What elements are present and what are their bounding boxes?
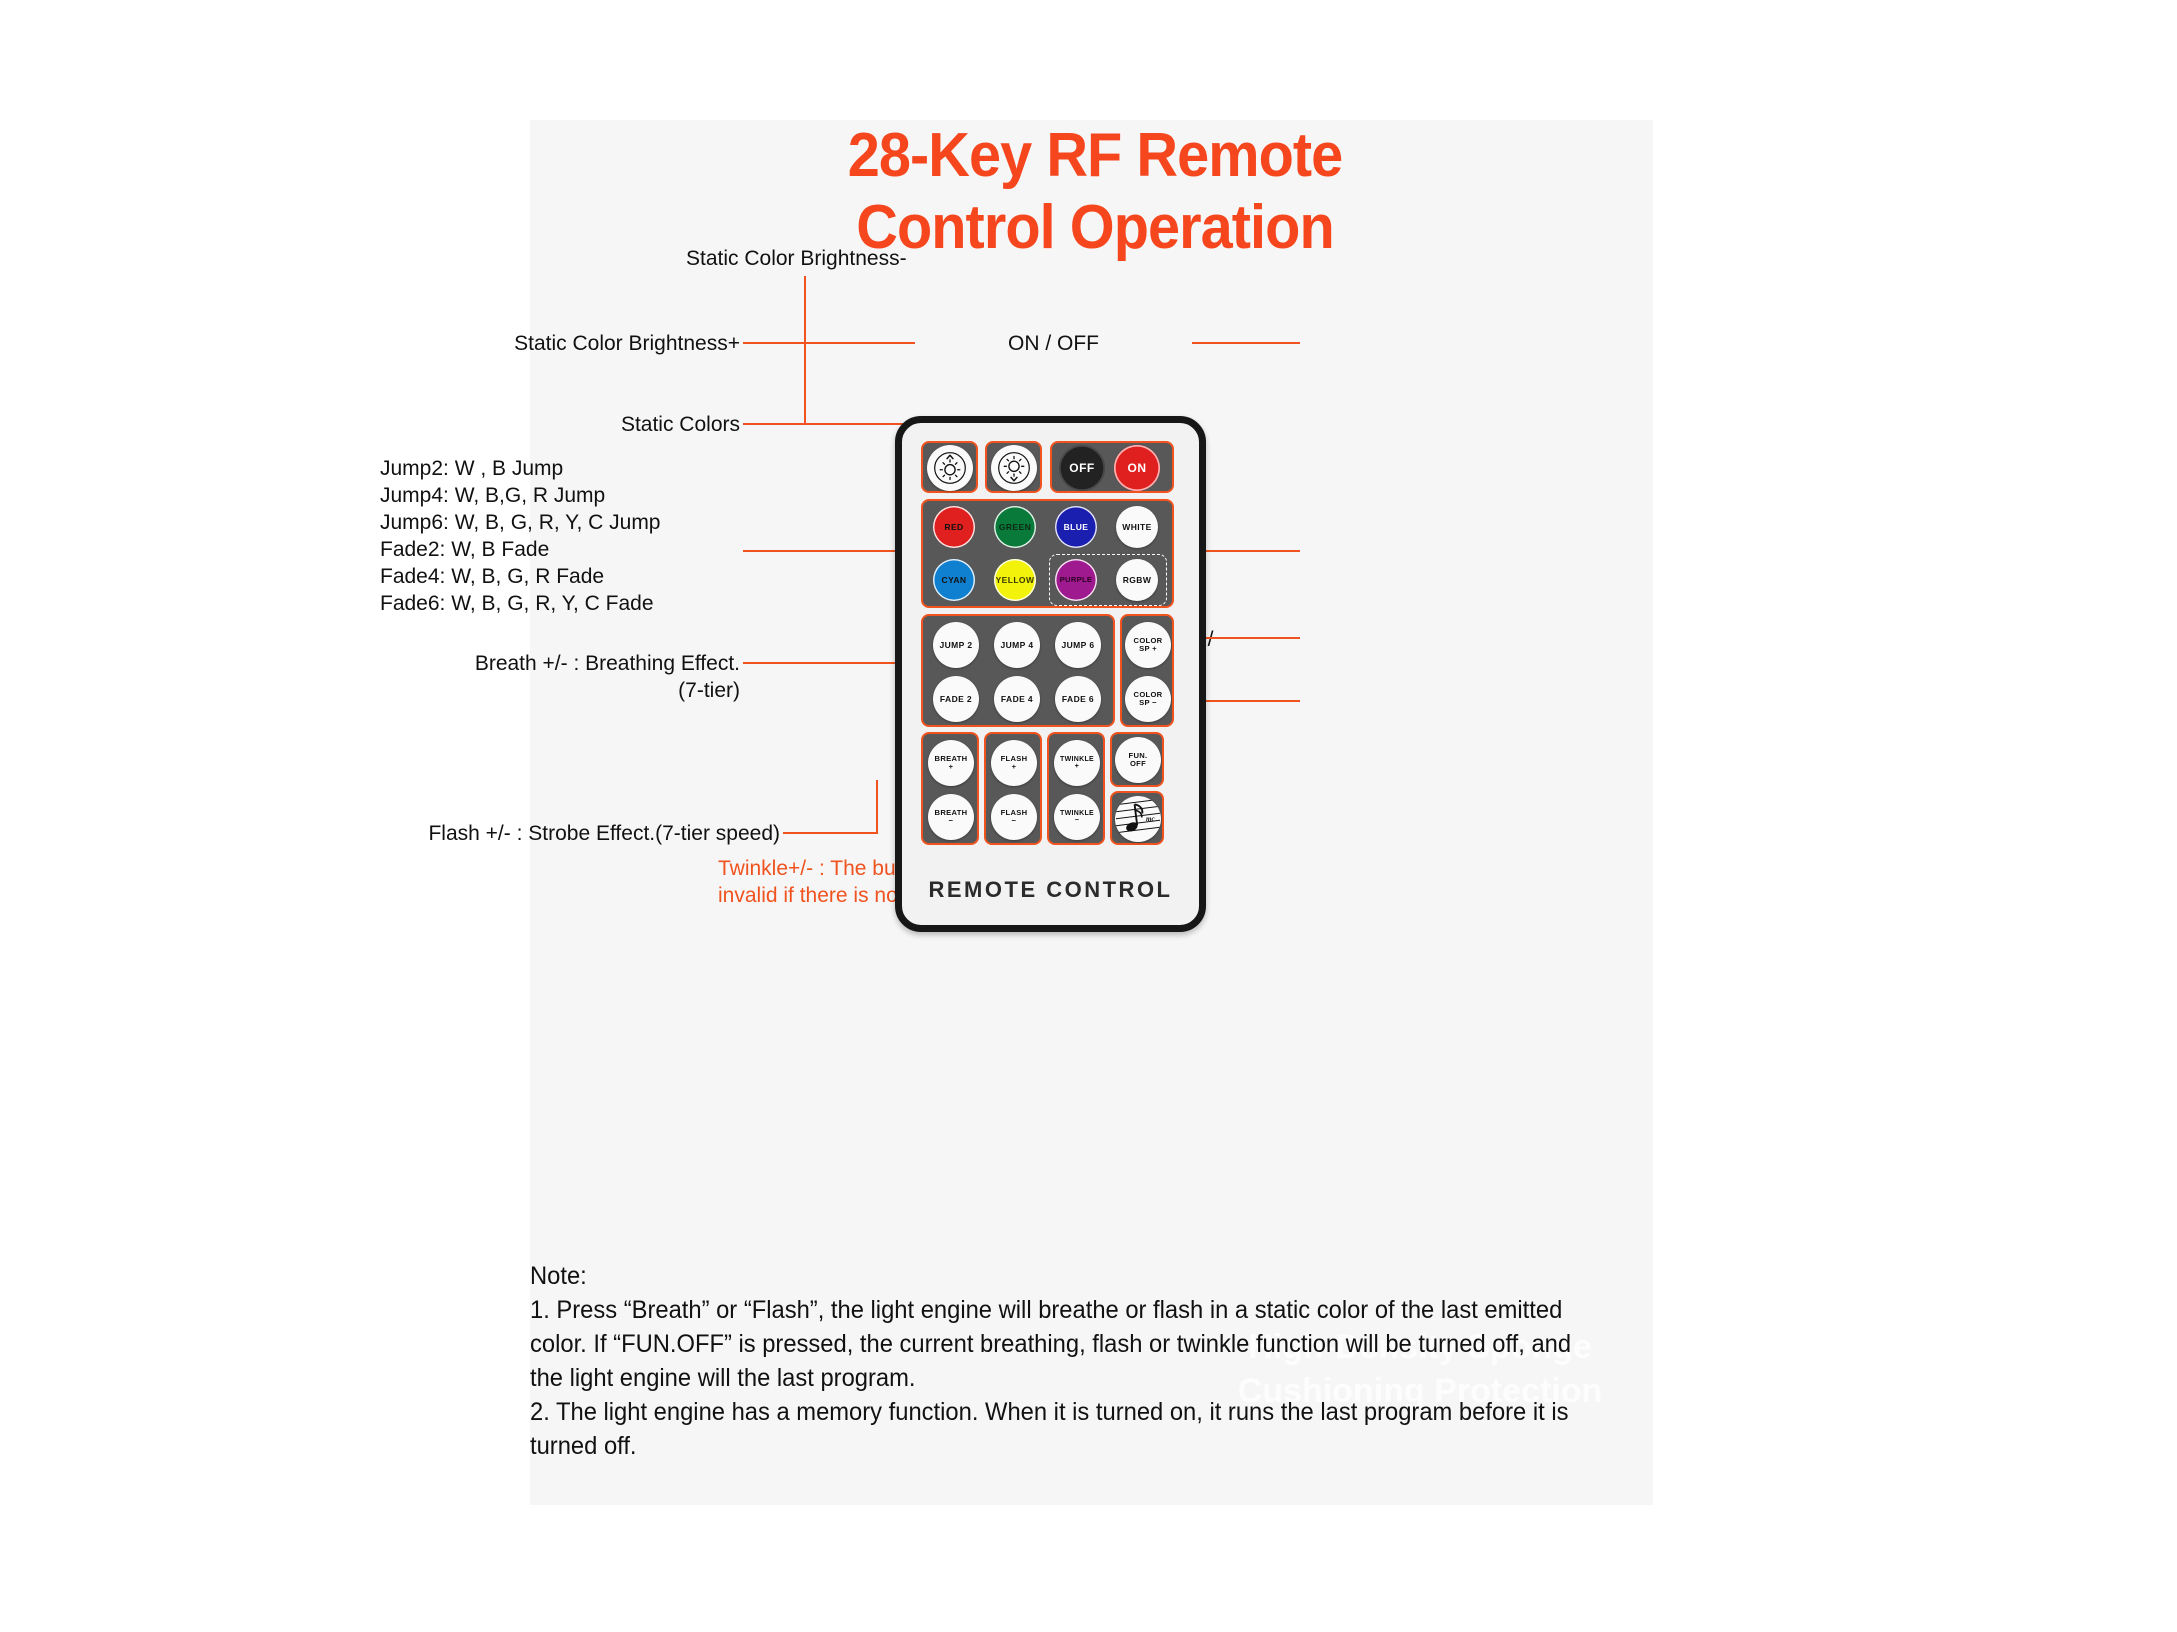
- leader-fun-off: [1192, 637, 1300, 639]
- zone-brightness-up: [921, 441, 978, 493]
- color-button-cyan[interactable]: CYAN: [933, 559, 975, 601]
- annotation-brightness-plus: Static Color Brightness+: [420, 330, 740, 357]
- fade6-button[interactable]: FADE 6: [1055, 676, 1101, 722]
- jump6-button[interactable]: JUMP 6: [1055, 622, 1101, 668]
- jump4-button[interactable]: JUMP 4: [994, 622, 1040, 668]
- leader-brightness-plus: [743, 342, 915, 344]
- color-sp-plus-button[interactable]: COLOR SP +: [1125, 622, 1171, 668]
- leader-static-colors: [743, 423, 915, 425]
- page-title: 28-Key RF Remote Control Operation: [588, 120, 1602, 264]
- annotation-brightness-minus: Static Color Brightness-: [686, 245, 907, 272]
- leader-on-off: [1192, 342, 1300, 344]
- color-button-red[interactable]: RED: [933, 506, 975, 548]
- zone-power: OFF ON: [1050, 441, 1174, 493]
- leader-twinkle-effect: [1192, 700, 1300, 702]
- fade2-button[interactable]: FADE 2: [933, 676, 979, 722]
- twinkle-minus-button[interactable]: TWINKLE −: [1054, 794, 1100, 840]
- leader-breath: [743, 662, 915, 664]
- sun-up-icon: [933, 451, 967, 485]
- note-item-2: 2. The light engine has a memory functio…: [530, 1395, 1597, 1463]
- breath-minus-button[interactable]: BREATH −: [928, 794, 974, 840]
- jump2-button[interactable]: JUMP 2: [933, 622, 979, 668]
- annotation-jump-fade: Jump2: W , B Jump Jump4: W, B,G, R Jump …: [380, 455, 730, 617]
- brightness-up-button[interactable]: [927, 445, 973, 491]
- color-button-yellow[interactable]: YELLOW: [994, 559, 1036, 601]
- fun-off-button[interactable]: FUN. OFF: [1115, 737, 1161, 783]
- twinkle-plus-button[interactable]: TWINKLE +: [1054, 740, 1100, 786]
- color-sp-minus-button[interactable]: COLOR SP −: [1125, 676, 1171, 722]
- leader-brightness-minus: [804, 276, 806, 424]
- annotation-on-off: ON / OFF: [1008, 330, 1099, 357]
- flash-plus-button[interactable]: FLASH +: [991, 740, 1037, 786]
- sun-down-icon: [997, 451, 1031, 485]
- leader-color-sp: [1192, 550, 1300, 552]
- leader-flash-h: [783, 832, 878, 834]
- brightness-down-button[interactable]: [991, 445, 1037, 491]
- zone-jump-fade: JUMP 2 JUMP 4 JUMP 6 FADE 2 FADE 4 FADE …: [921, 614, 1115, 727]
- zone-brightness-down: [985, 441, 1042, 493]
- annotation-static-colors: Static Colors: [395, 411, 740, 438]
- breath-plus-button[interactable]: BREATH +: [928, 740, 974, 786]
- zone-static-colors: RED GREEN BLUE WHITE CYAN YELLOW PURPLE …: [921, 499, 1174, 608]
- color-button-green[interactable]: GREEN: [994, 506, 1036, 548]
- note-block: Note: 1. Press “Breath” or “Flash”, the …: [530, 1259, 1597, 1463]
- zone-color-speed: COLOR SP + COLOR SP −: [1120, 614, 1174, 727]
- remote-control-device: OFF ON RED GREEN BLUE WHITE CYAN YELLOW …: [895, 416, 1206, 932]
- zone-breath: BREATH + BREATH −: [921, 732, 979, 845]
- remote-wordmark: REMOTE CONTROL: [902, 877, 1199, 903]
- flash-minus-button[interactable]: FLASH −: [991, 794, 1037, 840]
- music-note-icon: mc: [1116, 797, 1160, 841]
- music-note-button[interactable]: mc: [1115, 796, 1161, 842]
- color-button-white[interactable]: WHITE: [1116, 506, 1158, 548]
- leader-flash-v: [876, 780, 878, 834]
- zone-sound-control: mc: [1110, 791, 1164, 845]
- svg-text:mc: mc: [1146, 815, 1155, 823]
- color-button-purple[interactable]: PURPLE: [1055, 559, 1097, 601]
- zone-twinkle: TWINKLE + TWINKLE −: [1047, 732, 1105, 845]
- on-button[interactable]: ON: [1114, 445, 1160, 491]
- color-button-rgbw[interactable]: RGBW: [1116, 559, 1158, 601]
- zone-fun-off: FUN. OFF: [1110, 732, 1164, 787]
- color-button-blue[interactable]: BLUE: [1055, 506, 1097, 548]
- off-button[interactable]: OFF: [1059, 445, 1105, 491]
- leader-jump-fade: [743, 550, 915, 552]
- fade4-button[interactable]: FADE 4: [994, 676, 1040, 722]
- note-header: Note:: [530, 1259, 1597, 1293]
- zone-flash: FLASH + FLASH −: [984, 732, 1042, 845]
- note-item-1: 1. Press “Breath” or “Flash”, the light …: [530, 1293, 1597, 1395]
- content-panel: 28-Key RF Remote Control Operation High-…: [530, 120, 1653, 1505]
- annotation-flash: Flash +/- : Strobe Effect.(7-tier speed): [400, 820, 780, 847]
- annotation-breath: Breath +/- : Breathing Effect. (7-tier): [385, 650, 740, 704]
